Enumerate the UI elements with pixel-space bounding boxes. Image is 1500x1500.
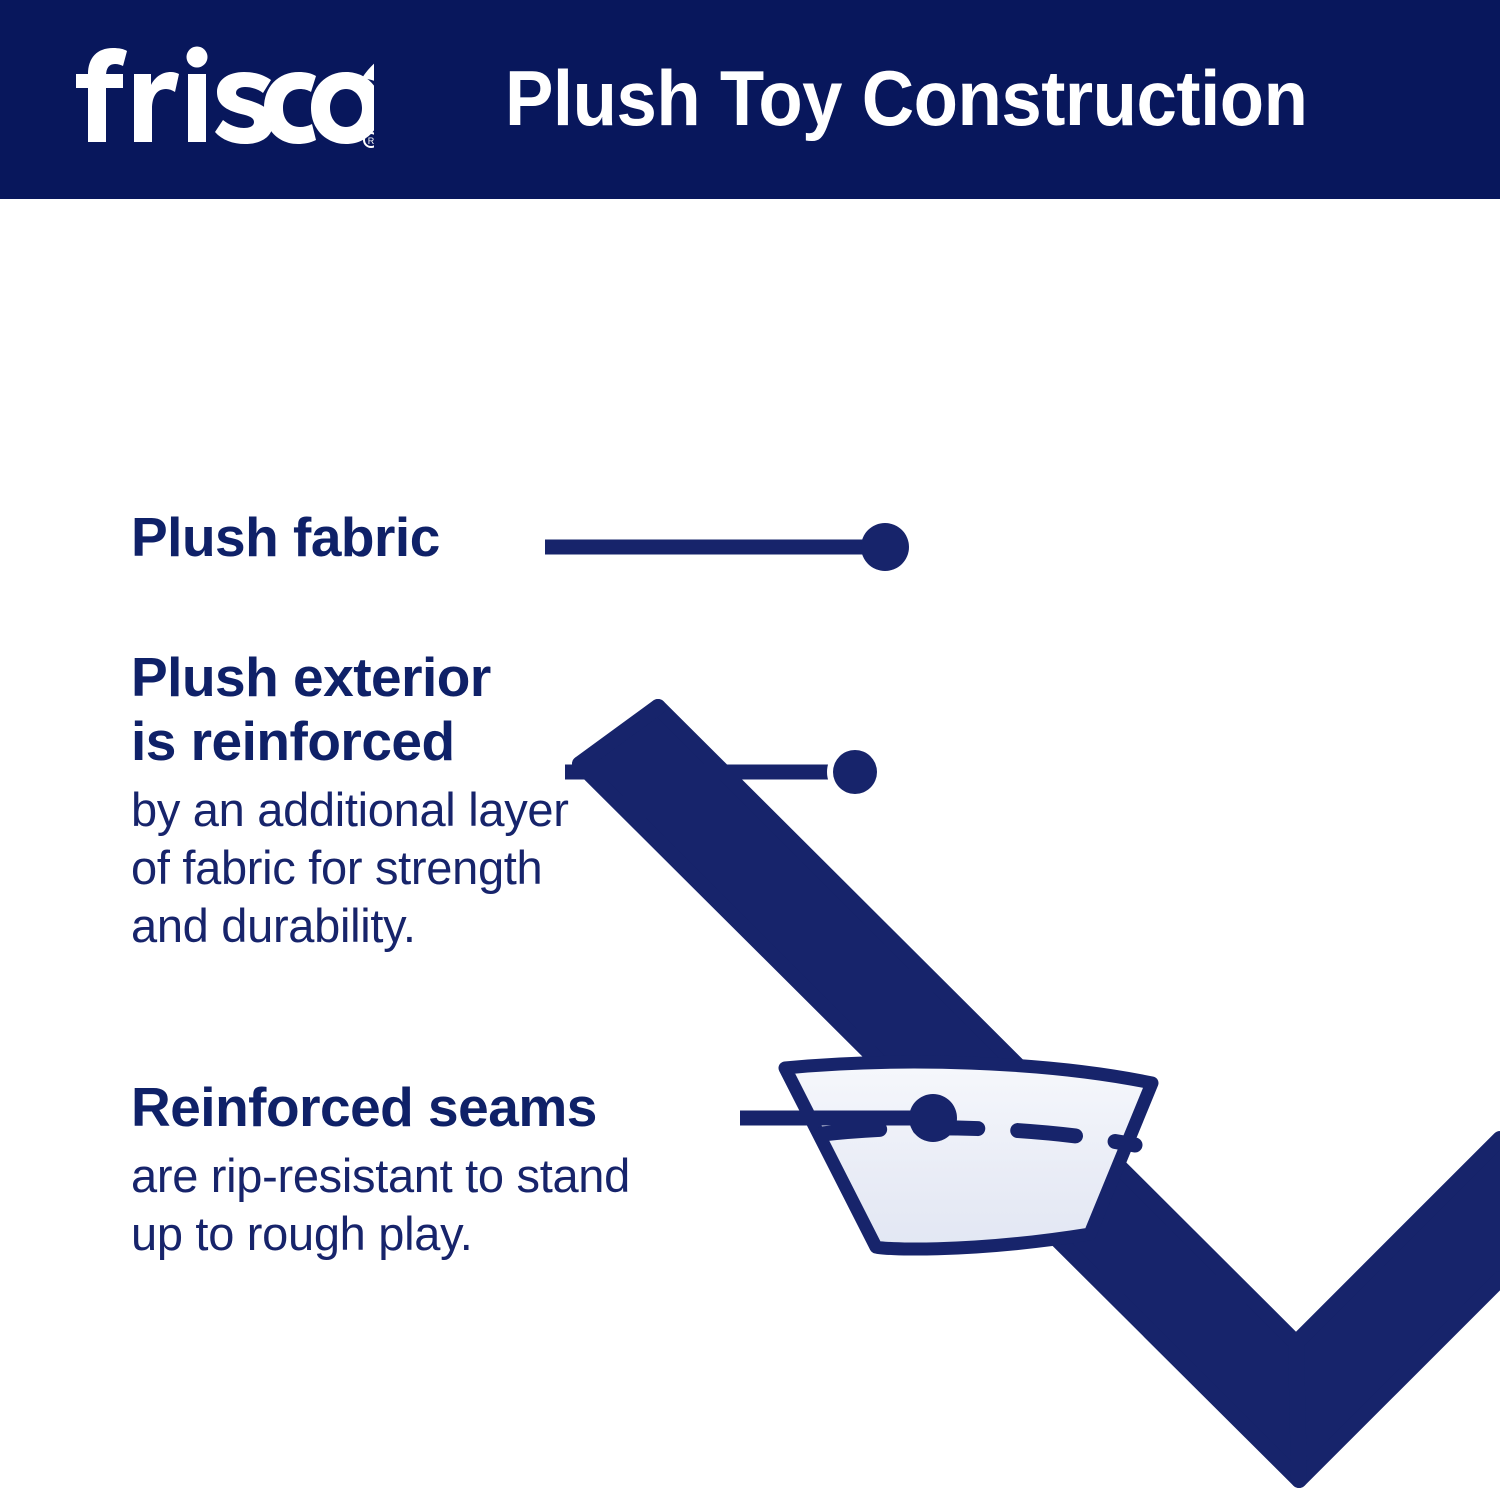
- callout-reinforced-seams: Reinforced seams are rip-resistant to st…: [131, 1075, 630, 1263]
- plush-fabric-teal-panel: [693, 357, 1500, 1104]
- callout-dot-reinforced-seams: [909, 1094, 957, 1142]
- stitch-dashed-line: [822, 1128, 1135, 1145]
- reinforced-seam-flap: [782, 1060, 1152, 1249]
- callout-heading-plush-exterior: Plush exterior is reinforced: [131, 645, 569, 773]
- infographic-root: R Plush Toy Construction: [0, 0, 1500, 1500]
- callout-body-reinforced-seams: are rip-resistant to stand up to rough p…: [131, 1147, 630, 1263]
- callout-heading-reinforced-seams: Reinforced seams: [131, 1075, 630, 1139]
- header-bar: R Plush Toy Construction: [0, 0, 1500, 199]
- callout-body-plush-exterior: by an additional layer of fabric for str…: [131, 781, 569, 955]
- callout-dot-plush-fabric: [861, 523, 909, 571]
- callout-plush-exterior: Plush exterior is reinforced by an addit…: [131, 645, 569, 955]
- svg-text:R: R: [368, 136, 374, 146]
- callout-plush-fabric: Plush fabric: [131, 505, 440, 569]
- registered-trademark-icon: R: [364, 133, 374, 147]
- callout-leaders: [545, 523, 957, 1142]
- page-title: Plush Toy Construction: [505, 46, 1307, 150]
- frisco-logo: R: [74, 44, 374, 154]
- callout-dot-plush-exterior: [833, 750, 877, 794]
- callout-heading-plush-fabric: Plush fabric: [131, 505, 440, 569]
